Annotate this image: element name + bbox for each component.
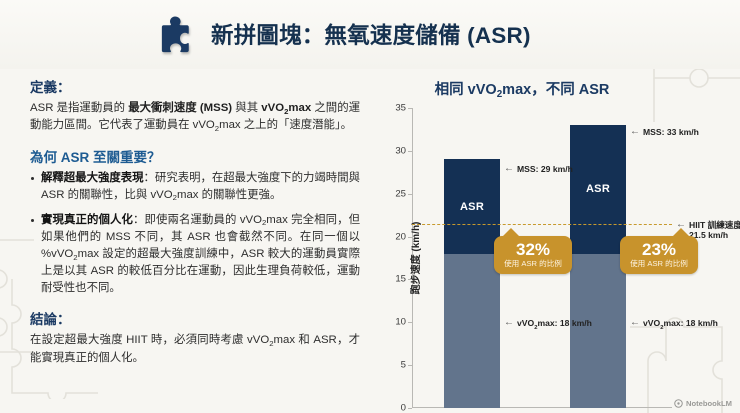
y-axis-tick-label: 15: [395, 274, 406, 285]
chart-panel: 相同 vVO2max，不同 ASR 跑步速度 (km/h) 0510152025…: [372, 72, 740, 413]
left-content-column: 定義： ASR 是指運動員的 最大衝刺速度 (MSS) 與其 vVO2max 之…: [30, 76, 360, 378]
bar-segment-vvo2max: [444, 254, 500, 408]
y-axis-tick-mark: [408, 194, 412, 195]
bar-group: ASR選手 B: [570, 108, 626, 408]
bar-segment-asr: ASR: [444, 159, 500, 253]
y-axis-tick-mark: [408, 279, 412, 280]
y-axis-tick-label: 10: [395, 317, 406, 328]
y-axis-tick-label: 25: [395, 188, 406, 199]
chart-title: 相同 vVO2max，不同 ASR: [372, 78, 672, 99]
arrow-left-icon: ←: [630, 127, 640, 137]
annotation-vvo2max-player-a: ← vVO2max: 18 km/h: [504, 318, 592, 328]
definition-body: ASR 是指運動員的 最大衝刺速度 (MSS) 與其 vVO2max 之間的運動…: [30, 100, 360, 135]
bar-segment-label: ASR: [586, 183, 610, 195]
annotation-mss-player-a: ← MSS: 29 km/h: [504, 164, 573, 174]
y-axis-tick-label: 20: [395, 231, 406, 242]
slide-header: 新拼圖塊：無氧速度儲備 (ASR): [0, 0, 740, 69]
arrow-left-icon: ←: [630, 318, 640, 328]
slide-root: 新拼圖塊：無氧速度儲備 (ASR) 定義： ASR 是指運動員的 最大衝刺速度 …: [0, 0, 740, 413]
bar-segment-label: ASR: [460, 201, 484, 213]
y-axis-tick-mark: [408, 408, 412, 409]
bar-segment-asr: ASR: [570, 125, 626, 254]
page-title: 新拼圖塊：無氧速度儲備 (ASR): [211, 18, 531, 50]
y-axis-tick-mark: [408, 151, 412, 152]
list-item: 解釋超最大強度表現：研究表明，在超最大強度下的力竭時間與 ASR 的關聯性，比與…: [30, 170, 360, 204]
asr-percentage-badge-a: 32% 使用 ASR 的比例: [494, 236, 572, 274]
why-heading: 為何 ASR 至關重要？: [30, 146, 360, 166]
hiit-reference-line: [412, 224, 672, 225]
annotation-mss-player-b: ← MSS: 33 km/h: [630, 127, 699, 137]
arrow-left-icon: ←: [504, 164, 514, 174]
y-axis-tick-label: 0: [401, 403, 406, 413]
badge-tail: [502, 228, 520, 237]
asr-percentage-badge-b: 23% 使用 ASR 的比例: [620, 236, 698, 274]
y-axis-tick-mark: [408, 322, 412, 323]
puzzle-piece-icon: [160, 14, 200, 54]
conclusion-block: 結論： 在設定超最大強度 HIIT 時，必須同時考慮 vVO2max 和 ASR…: [30, 308, 360, 367]
badge-tail: [672, 228, 690, 237]
y-axis-tick-label: 30: [395, 145, 406, 156]
y-axis-tick-label: 35: [395, 103, 406, 114]
definition-block: 定義： ASR 是指運動員的 最大衝刺速度 (MSS) 與其 vVO2max 之…: [30, 76, 360, 135]
y-axis-tick-label: 5: [401, 360, 406, 371]
bar-segment-vvo2max: [570, 254, 626, 408]
y-axis-tick-mark: [408, 365, 412, 366]
why-bullet-list: 解釋超最大強度表現：研究表明，在超最大強度下的力竭時間與 ASR 的關聯性，比與…: [30, 170, 360, 298]
notebooklm-logo-icon: [674, 399, 683, 408]
definition-heading: 定義：: [30, 76, 360, 96]
conclusion-heading: 結論：: [30, 308, 360, 328]
why-block: 為何 ASR 至關重要？ 解釋超最大強度表現：研究表明，在超最大強度下的力竭時間…: [30, 146, 360, 298]
y-axis-tick-mark: [408, 237, 412, 238]
list-item: 實現真正的個人化：即使兩名運動員的 vVO2max 完全相同，但如果他們的 MS…: [30, 212, 360, 298]
annotation-vvo2max-player-b: ← vVO2max: 18 km/h: [630, 318, 718, 328]
y-axis-tick-mark: [408, 108, 412, 109]
y-axis-label: 跑步速度 (km/h): [407, 222, 422, 295]
bar-group: ASR選手 A: [444, 108, 500, 408]
arrow-left-icon: ←: [504, 318, 514, 328]
notebooklm-watermark: NotebookLM: [674, 399, 732, 408]
conclusion-body: 在設定超最大強度 HIIT 時，必須同時考慮 vVO2max 和 ASR，才能實…: [30, 332, 360, 367]
